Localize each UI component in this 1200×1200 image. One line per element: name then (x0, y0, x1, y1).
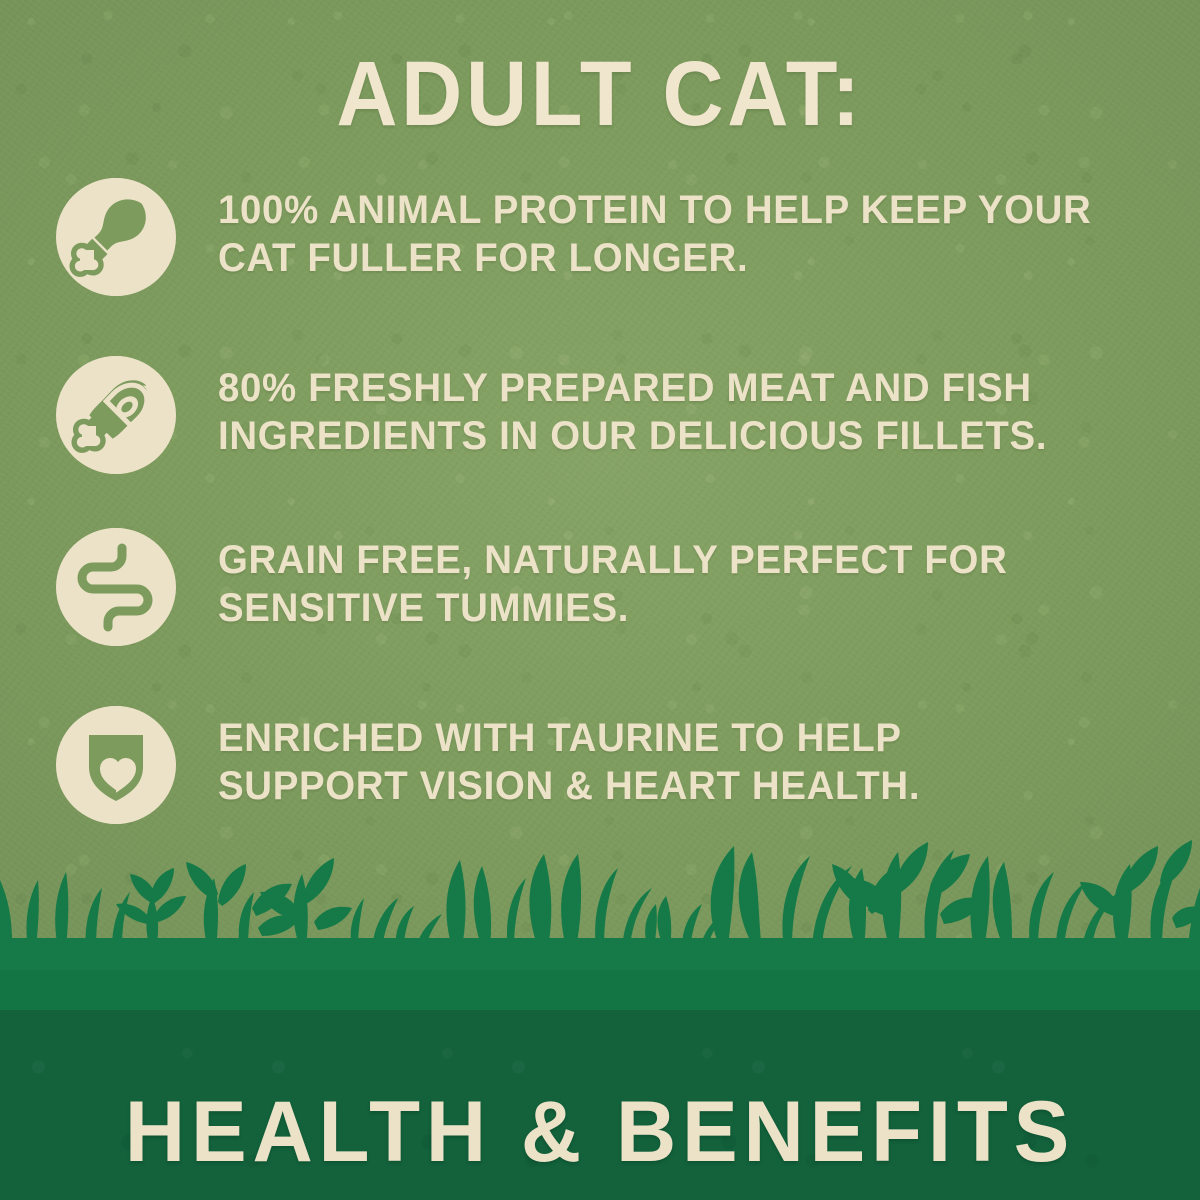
benefit-item: 80% FRESHLY PREPARED MEAT AND FISH INGRE… (0, 356, 1200, 484)
adult-cat-health-benefits-poster: ADULT CAT: (0, 0, 1200, 1200)
benefit-item: GRAIN FREE, NATURALLY PERFECT FOR SENSIT… (0, 528, 1200, 656)
benefits-list: 100% ANIMAL PROTEIN TO HELP KEEP YOUR CA… (0, 178, 1200, 834)
benefit-icon-wrap (56, 528, 176, 646)
shield-heart-icon (56, 706, 176, 824)
drumstick-icon (56, 178, 176, 296)
benefit-icon-wrap (56, 356, 176, 474)
benefit-text: 100% ANIMAL PROTEIN TO HELP KEEP YOUR CA… (218, 178, 1094, 282)
page-title: ADULT CAT: (48, 46, 1152, 142)
benefit-item: ENRICHED WITH TAURINE TO HELP SUPPORT VI… (0, 706, 1200, 834)
ham-steak-icon (56, 356, 176, 474)
intestine-icon (56, 528, 176, 646)
grass-silhouette (0, 820, 1200, 1010)
benefit-icon-wrap (56, 178, 176, 296)
benefit-text: 80% FRESHLY PREPARED MEAT AND FISH INGRE… (218, 356, 1094, 460)
benefit-text: GRAIN FREE, NATURALLY PERFECT FOR SENSIT… (218, 528, 1094, 632)
benefit-item: 100% ANIMAL PROTEIN TO HELP KEEP YOUR CA… (0, 178, 1200, 306)
footer-title: HEALTH & BENEFITS (18, 1086, 1182, 1178)
benefit-icon-wrap (56, 706, 176, 824)
benefit-text: ENRICHED WITH TAURINE TO HELP SUPPORT VI… (218, 706, 1094, 810)
